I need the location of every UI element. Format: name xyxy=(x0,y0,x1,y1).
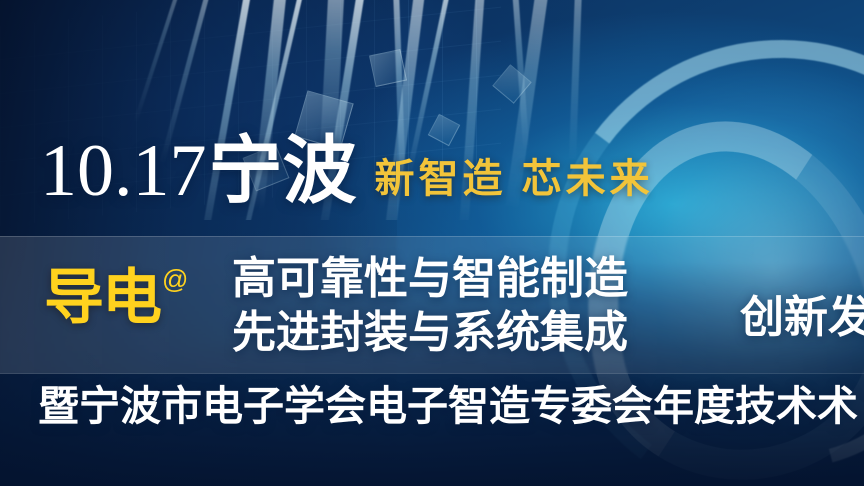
brand-name: 导电 xyxy=(44,268,160,328)
brand-lockup: 导电 @ xyxy=(44,268,188,328)
poster-content: 10.17 宁波 新智造 芯未来 导电 @ 高可靠性与智能制造 先进封装与系统集… xyxy=(0,0,864,486)
event-subtitle: 暨宁波市电子学会电子智造专委会年度技术术 xyxy=(38,386,858,427)
right-edge-phrase: 创新发 xyxy=(740,296,864,340)
event-date: 10.17 xyxy=(40,138,207,205)
at-symbol-icon: @ xyxy=(162,264,188,295)
poster-canvas: 10.17 宁波 新智造 芯未来 导电 @ 高可靠性与智能制造 先进封装与系统集… xyxy=(0,0,864,486)
topic-heading: 高可靠性与智能制造 先进封装与系统集成 xyxy=(232,252,628,359)
headline-row: 10.17 宁波 新智造 芯未来 xyxy=(40,138,654,205)
event-slogan: 新智造 芯未来 xyxy=(375,159,654,199)
topic-line-1: 高可靠性与智能制造 xyxy=(232,252,628,306)
topic-line-2: 先进封装与系统集成 xyxy=(232,306,628,360)
event-city: 宁波 xyxy=(209,138,357,205)
